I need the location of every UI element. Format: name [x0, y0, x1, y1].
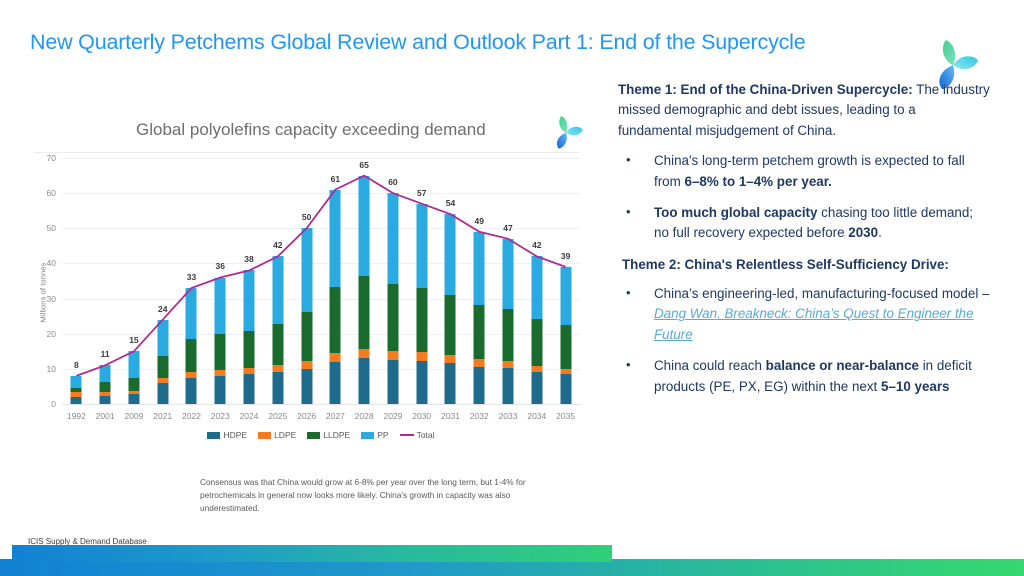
x-axis-tick-label: 2035	[556, 411, 575, 421]
theme1-heading: Theme 1: End of the China-Driven Supercy…	[618, 82, 913, 97]
legend-item-ldpe[interactable]: LDPE	[258, 430, 296, 440]
theme1-bullets: China's long-term petchem growth is expe…	[618, 151, 990, 244]
list-item: Too much global capacity chasing too lit…	[618, 203, 990, 244]
legend-label: LLDPE	[323, 430, 350, 440]
x-axis-tick-label: 2021	[153, 411, 172, 421]
y-axis-tick-label: 60	[47, 188, 56, 198]
theme2-bullets: China’s engineering-led, manufacturing-f…	[618, 284, 990, 397]
legend-item-hdpe[interactable]: HDPE	[207, 430, 247, 440]
list-item: China's long-term petchem growth is expe…	[618, 151, 990, 192]
legend-label: HDPE	[223, 430, 247, 440]
chart-title-divider	[34, 152, 580, 153]
footer-gradient-bar-front	[12, 545, 612, 562]
legend-swatch	[307, 432, 320, 439]
x-axis-tick-label: 2026	[297, 411, 316, 421]
legend-label: PP	[377, 430, 388, 440]
slide-canvas: New Quarterly Petchems Global Review and…	[0, 0, 1024, 576]
chart-plot-area: 010203040506070 819921120011520092420213…	[62, 158, 580, 404]
bullet4-text-a: China could reach	[654, 358, 766, 373]
themes-panel: Theme 1: End of the China-Driven Supercy…	[618, 80, 990, 408]
x-axis-tick-label: 2024	[240, 411, 259, 421]
bullet2-text-c: 2030	[848, 225, 878, 240]
y-axis-tick-label: 10	[47, 364, 56, 374]
x-axis-tick-label: 2034	[527, 411, 546, 421]
y-axis-tick-label: 30	[47, 294, 56, 304]
total-polyline	[76, 176, 565, 376]
x-axis-tick-label: 2001	[96, 411, 115, 421]
legend-item-pp[interactable]: PP	[361, 430, 388, 440]
chart-container: Global polyolefins capacity exceeding de…	[24, 108, 588, 520]
x-axis-tick-label: 2009	[124, 411, 143, 421]
x-axis-tick-label: 2028	[355, 411, 374, 421]
theme1-paragraph: Theme 1: End of the China-Driven Supercy…	[618, 80, 990, 141]
list-item: China’s engineering-led, manufacturing-f…	[618, 284, 990, 345]
x-axis-tick-label: 2022	[182, 411, 201, 421]
legend-item-total[interactable]: Total	[400, 430, 435, 440]
bullet4-text-b: balance or near-balance	[766, 358, 919, 373]
chart-legend: HDPELDPELLDPEPPTotal	[62, 430, 580, 440]
legend-swatch	[258, 432, 271, 439]
x-axis-tick-label: 2032	[470, 411, 489, 421]
x-axis-tick-label: 1992	[67, 411, 86, 421]
legend-label: LDPE	[274, 430, 296, 440]
bullet3-text-a: China’s engineering-led, manufacturing-f…	[654, 286, 989, 301]
bullet4-text-d: 5–10 years	[881, 379, 950, 394]
y-axis-tick-label: 70	[47, 153, 56, 163]
theme2-heading: Theme 2: China's Relentless Self-Suffici…	[618, 255, 990, 275]
x-axis-tick-label: 2033	[499, 411, 518, 421]
y-axis-tick-label: 40	[47, 258, 56, 268]
y-axis-tick-label: 0	[51, 399, 56, 409]
gridline: 0	[62, 404, 580, 405]
bullet2-text-d: .	[878, 225, 882, 240]
y-axis-tick-label: 20	[47, 329, 56, 339]
legend-swatch	[207, 432, 220, 439]
list-item: China could reach balance or near-balanc…	[618, 356, 990, 397]
book-reference-link[interactable]: Dang Wan, Breakneck: China’s Quest to En…	[654, 306, 974, 341]
bullet1-text-b: 6–8% to 1–4% per year.	[685, 174, 832, 189]
legend-label: Total	[417, 430, 435, 440]
legend-line-swatch	[400, 434, 414, 436]
icis-pinwheel-logo-chart	[546, 110, 586, 154]
y-axis-tick-label: 50	[47, 223, 56, 233]
x-axis-tick-label: 2023	[211, 411, 230, 421]
page-title: New Quarterly Petchems Global Review and…	[30, 30, 910, 55]
x-axis-tick-label: 2027	[326, 411, 345, 421]
total-line-series	[62, 158, 580, 404]
x-axis-tick-label: 2025	[268, 411, 287, 421]
x-axis-tick-label: 2029	[383, 411, 402, 421]
chart-title: Global polyolefins capacity exceeding de…	[136, 120, 486, 140]
bullet2-text-a: Too much global capacity	[654, 205, 817, 220]
legend-swatch	[361, 432, 374, 439]
chart-footnote: Consensus was that China would grow at 6…	[200, 476, 570, 515]
x-axis-tick-label: 2030	[412, 411, 431, 421]
legend-item-lldpe[interactable]: LLDPE	[307, 430, 350, 440]
x-axis-tick-label: 2031	[441, 411, 460, 421]
